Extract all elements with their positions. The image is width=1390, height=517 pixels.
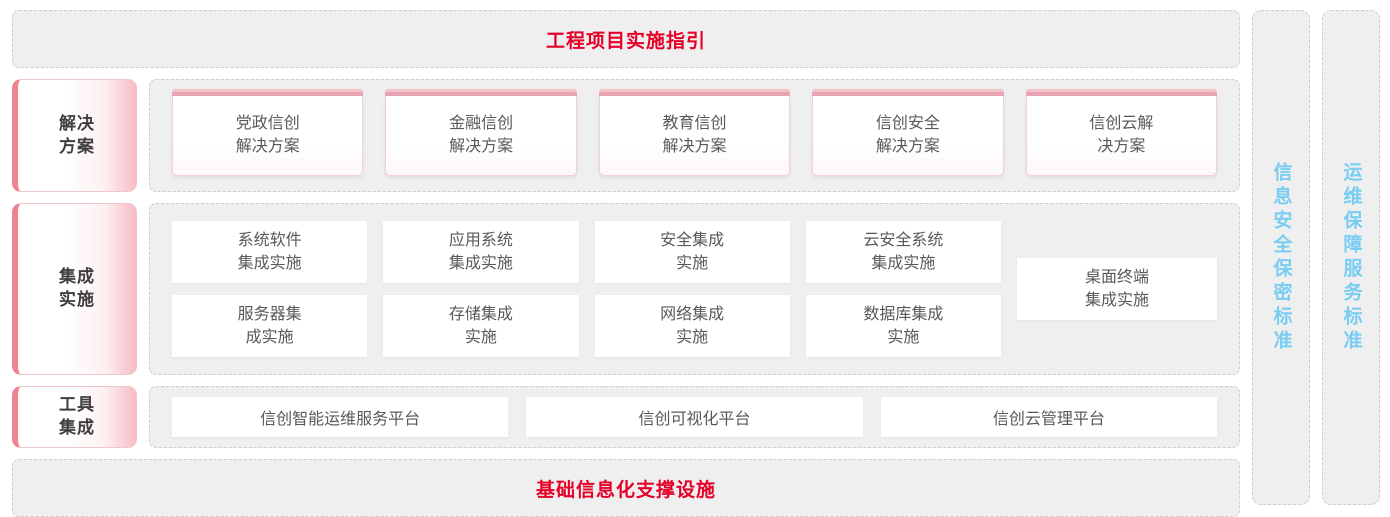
solution-card-government-text: 党政信创 解决方案 <box>236 112 300 158</box>
integration-card-cloud-security-text: 云安全系统 集成实施 <box>863 229 943 275</box>
tool-card-visualization-platform-label: 信创可视化平台 <box>638 405 750 429</box>
line2: 集成实施 <box>238 255 302 272</box>
side-column-security-standard[interactable]: 信息安全保密标准 <box>1252 10 1310 505</box>
category-label-solutions-line2: 方案 <box>59 137 95 156</box>
category-label-integration[interactable]: 集成 实施 <box>12 203 137 375</box>
category-label-integration-text: 集成 实施 <box>59 266 95 312</box>
category-label-integration-line1: 集成 <box>59 267 95 286</box>
line1: 教育信创 <box>663 115 727 132</box>
integration-wrap: 系统软件 集成实施 应用系统 集成实施 安全 <box>150 221 1239 357</box>
tool-card-aiops-platform[interactable]: 信创智能运维服务平台 <box>172 397 508 437</box>
page-title: 工程项目实施指引 <box>546 26 706 53</box>
line1: 信创云解 <box>1089 115 1153 132</box>
line2: 实施 <box>676 255 708 272</box>
category-label-tools-text: 工具 集成 <box>59 394 95 440</box>
line1: 存储集成 <box>449 306 513 323</box>
integration-card-server-text: 服务器集 成实施 <box>238 303 302 349</box>
line1: 应用系统 <box>449 232 513 249</box>
side-standard-columns: 信息安全保密标准 运维保障服务标准 <box>1252 10 1380 505</box>
integration-card-application-system-text: 应用系统 集成实施 <box>449 229 513 275</box>
line2: 成实施 <box>246 329 294 346</box>
line1: 服务器集 <box>238 306 302 323</box>
row-solutions: 解决 方案 党政信创 解决方案 金融信创 解决方案 <box>12 79 1240 192</box>
solution-card-cloud-text: 信创云解 决方案 <box>1089 112 1153 158</box>
category-label-solutions-text: 解决 方案 <box>59 113 95 159</box>
integration-card-network[interactable]: 网络集成 实施 <box>595 295 790 357</box>
solution-card-strip: 党政信创 解决方案 金融信创 解决方案 教育信创 解决方案 <box>150 96 1239 176</box>
solution-card-finance-text: 金融信创 解决方案 <box>449 112 513 158</box>
integration-card-desktop-terminal[interactable]: 桌面终端 集成实施 <box>1017 258 1217 320</box>
integration-card-storage[interactable]: 存储集成 实施 <box>383 295 578 357</box>
integration-card-server[interactable]: 服务器集 成实施 <box>172 295 367 357</box>
row-tools: 工具 集成 信创智能运维服务平台 信创可视化平台 信创云管理平台 <box>12 386 1240 448</box>
tool-card-cloud-management-platform[interactable]: 信创云管理平台 <box>881 397 1217 437</box>
line2: 解决方案 <box>449 138 513 155</box>
main-column: 工程项目实施指引 解决 方案 党政信创 解决方案 <box>12 10 1240 505</box>
panel-integration: 系统软件 集成实施 应用系统 集成实施 安全 <box>149 203 1240 375</box>
integration-card-desktop-terminal-text: 桌面终端 集成实施 <box>1085 266 1149 312</box>
diagram-canvas: 工程项目实施指引 解决 方案 党政信创 解决方案 <box>0 0 1390 515</box>
category-label-tools-line2: 集成 <box>59 418 95 437</box>
category-label-solutions[interactable]: 解决 方案 <box>12 79 137 192</box>
footer-banner: 基础信息化支撑设施 <box>12 459 1240 517</box>
solution-card-cloud[interactable]: 信创云解 决方案 <box>1026 96 1217 176</box>
solution-card-education-text: 教育信创 解决方案 <box>663 112 727 158</box>
line2: 实施 <box>465 329 497 346</box>
category-label-tools-line1: 工具 <box>59 395 95 414</box>
line2: 解决方案 <box>876 138 940 155</box>
integration-card-storage-text: 存储集成 实施 <box>449 303 513 349</box>
integration-card-security[interactable]: 安全集成 实施 <box>595 221 790 283</box>
panel-tools: 信创智能运维服务平台 信创可视化平台 信创云管理平台 <box>149 386 1240 448</box>
footer-title: 基础信息化支撑设施 <box>536 475 716 502</box>
integration-card-system-software[interactable]: 系统软件 集成实施 <box>172 221 367 283</box>
tool-card-strip: 信创智能运维服务平台 信创可视化平台 信创云管理平台 <box>150 397 1239 437</box>
line1: 网络集成 <box>660 306 724 323</box>
line2: 实施 <box>676 329 708 346</box>
integration-card-system-software-text: 系统软件 集成实施 <box>238 229 302 275</box>
category-label-solutions-line1: 解决 <box>59 114 95 133</box>
line1: 党政信创 <box>236 115 300 132</box>
integration-card-database-text: 数据库集成 实施 <box>863 303 943 349</box>
solution-card-education[interactable]: 教育信创 解决方案 <box>599 96 790 176</box>
row-integration: 集成 实施 系统软件 集成实施 <box>12 203 1240 375</box>
integration-grid: 系统软件 集成实施 应用系统 集成实施 安全 <box>172 221 1001 357</box>
header-banner: 工程项目实施指引 <box>12 10 1240 68</box>
integration-card-security-text: 安全集成 实施 <box>660 229 724 275</box>
line1: 云安全系统 <box>863 232 943 249</box>
solution-card-government[interactable]: 党政信创 解决方案 <box>172 96 363 176</box>
line2: 集成实施 <box>449 255 513 272</box>
side-column-ops-standard-label: 运维保障服务标准 <box>1342 162 1361 354</box>
line2: 解决方案 <box>236 138 300 155</box>
side-column-security-standard-label: 信息安全保密标准 <box>1272 162 1291 354</box>
category-label-integration-line2: 实施 <box>59 290 95 309</box>
line1: 信创安全 <box>876 115 940 132</box>
line1: 数据库集成 <box>863 306 943 323</box>
solution-card-security[interactable]: 信创安全 解决方案 <box>812 96 1003 176</box>
integration-card-network-text: 网络集成 实施 <box>660 303 724 349</box>
integration-card-database[interactable]: 数据库集成 实施 <box>806 295 1001 357</box>
tool-card-visualization-platform[interactable]: 信创可视化平台 <box>526 397 862 437</box>
line1: 系统软件 <box>238 232 302 249</box>
line1: 金融信创 <box>449 115 513 132</box>
line1: 桌面终端 <box>1085 269 1149 286</box>
panel-solutions: 党政信创 解决方案 金融信创 解决方案 教育信创 解决方案 <box>149 79 1240 192</box>
tool-card-aiops-platform-label: 信创智能运维服务平台 <box>260 405 420 429</box>
line2: 解决方案 <box>663 138 727 155</box>
line2: 集成实施 <box>1085 292 1149 309</box>
category-label-tools[interactable]: 工具 集成 <box>12 386 137 448</box>
line1: 安全集成 <box>660 232 724 249</box>
solution-card-security-text: 信创安全 解决方案 <box>876 112 940 158</box>
integration-card-application-system[interactable]: 应用系统 集成实施 <box>383 221 578 283</box>
line2: 集成实施 <box>871 255 935 272</box>
solution-card-finance[interactable]: 金融信创 解决方案 <box>385 96 576 176</box>
side-column-ops-standard[interactable]: 运维保障服务标准 <box>1322 10 1380 505</box>
integration-card-cloud-security[interactable]: 云安全系统 集成实施 <box>806 221 1001 283</box>
line2: 决方案 <box>1097 138 1145 155</box>
line2: 实施 <box>887 329 919 346</box>
tool-card-cloud-management-platform-label: 信创云管理平台 <box>993 405 1105 429</box>
